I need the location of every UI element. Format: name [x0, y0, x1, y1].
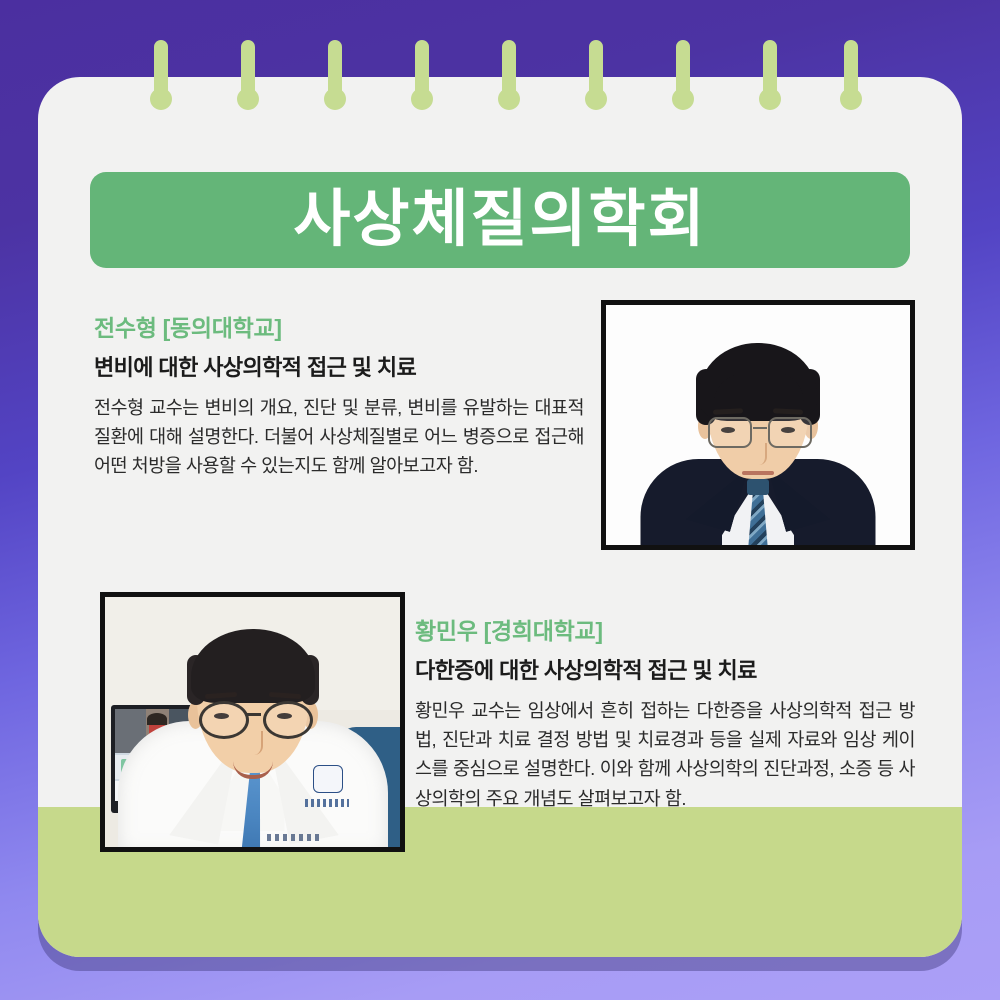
portrait-hwang-illustration	[105, 597, 400, 847]
title-banner: 사상체질의학회	[90, 172, 910, 268]
speaker-name-jeon: 전수형 [동의대학교]	[94, 309, 584, 343]
portrait-jeon-illustration	[606, 305, 910, 545]
page-title: 사상체질의학회	[293, 189, 706, 251]
speaker-photo-hwang	[100, 592, 405, 852]
speaker-block-jeon: 전수형 [동의대학교] 변비에 대한 사상의학적 접근 및 치료 전수형 교수는…	[94, 309, 584, 481]
speaker-topic-hwang: 다한증에 대한 사상의학적 접근 및 치료	[415, 653, 915, 685]
speaker-photo-jeon	[601, 300, 915, 550]
speaker-topic-jeon: 변비에 대한 사상의학적 접근 및 치료	[94, 350, 584, 382]
poster-canvas: 사상체질의학회	[0, 0, 1000, 1000]
speaker-block-hwang: 황민우 [경희대학교] 다한증에 대한 사상의학적 접근 및 치료 황민우 교수…	[415, 612, 915, 813]
content-card: 사상체질의학회	[38, 77, 962, 957]
speaker-description-hwang: 황민우 교수는 임상에서 흔히 접하는 다한증을 사상의학적 접근 방법, 진단…	[415, 696, 915, 813]
speaker-description-jeon: 전수형 교수는 변비의 개요, 진단 및 분류, 변비를 유발하는 대표적 질환…	[94, 393, 584, 481]
speaker-name-hwang: 황민우 [경희대학교]	[415, 612, 915, 646]
